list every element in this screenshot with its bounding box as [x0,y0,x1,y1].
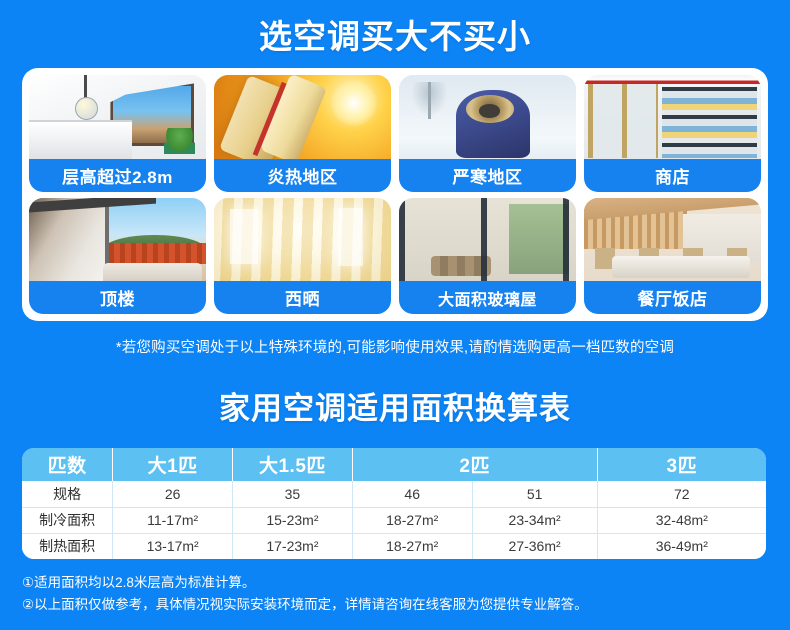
table-cell: 36-49m² [597,533,766,559]
table-row-label: 制热面积 [22,533,113,559]
store-shelves-photo [584,75,761,159]
scenario-card-cold-region[interactable]: 严寒地区 [399,75,576,192]
scenario-card-row-1: 层高超过2.8m 炎热地区 严寒地区 商 [29,75,761,192]
table-header-cell: 大1.5匹 [233,448,353,481]
table-cell: 46 [352,481,472,507]
table-row: 规格 26 35 46 51 72 [22,481,766,507]
table-header-row: 匹数 大1匹 大1.5匹 2匹 3匹 [22,448,766,481]
table-header-cell: 3匹 [597,448,766,481]
scenario-card-store[interactable]: 商店 [584,75,761,192]
table-cell: 13-17m² [113,533,233,559]
table-row-label: 制冷面积 [22,507,113,533]
footnotes: ①适用面积均以2.8米层高为标准计算。 ②以上面积仅做参考，具体情况视实际安装环… [22,572,588,617]
footnote-item: ①适用面积均以2.8米层高为标准计算。 [22,572,588,594]
rooftop-terrace-photo [29,198,206,282]
table-cell: 32-48m² [597,507,766,533]
page-title: 选空调买大不买小 [0,0,790,53]
table-cell: 27-36m² [472,533,597,559]
table-cell: 15-23m² [233,507,353,533]
scenario-card-top-floor[interactable]: 顶楼 [29,198,206,315]
scenario-card-west-sun[interactable]: 西晒 [214,198,391,315]
glass-house-photo [399,198,576,282]
scenario-card-label: 大面积玻璃屋 [399,281,576,314]
scenario-card-restaurant[interactable]: 餐厅饭店 [584,198,761,315]
tall-ceiling-kitchen-photo [29,75,206,159]
table-cell: 17-23m² [233,533,353,559]
scenario-card-label: 餐厅饭店 [584,281,761,314]
table-row-label: 规格 [22,481,113,507]
table-row: 制冷面积 11-17m² 15-23m² 18-27m² 23-34m² 32-… [22,507,766,533]
scenario-card-label: 顶楼 [29,281,206,314]
table-cell: 11-17m² [113,507,233,533]
thermometer-sun-photo [214,75,391,159]
scenario-card-row-2: 顶楼 西晒 大面积玻璃屋 餐厅饭店 [29,198,761,315]
scenario-card-glass-house[interactable]: 大面积玻璃屋 [399,198,576,315]
footnote-item: ②以上面积仅做参考，具体情况视实际安装环境而定，详情请咨询在线客服为您提供专业解… [22,594,588,616]
table-cell: 26 [113,481,233,507]
table-title: 家用空调适用面积换算表 [0,383,790,428]
table-cell: 51 [472,481,597,507]
area-conversion-table: 匹数 大1匹 大1.5匹 2匹 3匹 规格 26 35 46 51 72 制冷面… [22,448,766,559]
table-cell: 23-34m² [472,507,597,533]
table-cell: 35 [233,481,353,507]
scenario-card-label: 严寒地区 [399,159,576,192]
table-cell: 72 [597,481,766,507]
table-row: 制热面积 13-17m² 17-23m² 18-27m² 27-36m² 36-… [22,533,766,559]
scenario-card-label: 层高超过2.8m [29,159,206,192]
scenario-card-panel: 层高超过2.8m 炎热地区 严寒地区 商 [22,68,768,321]
scenario-card-label: 西晒 [214,281,391,314]
scenario-card-tall-ceiling[interactable]: 层高超过2.8m [29,75,206,192]
scenario-card-label: 商店 [584,159,761,192]
scenario-card-hot-region[interactable]: 炎热地区 [214,75,391,192]
table-header-cell: 匹数 [22,448,113,481]
restaurant-interior-photo [584,198,761,282]
person-in-snow-photo [399,75,576,159]
table-cell: 18-27m² [352,507,472,533]
scenario-card-label: 炎热地区 [214,159,391,192]
special-environment-note: *若您购买空调处于以上特殊环境的,可能影响使用效果,请酌情选购更高一档匹数的空调 [0,336,790,357]
sunlit-curtains-photo [214,198,391,282]
table-header-cell: 大1匹 [113,448,233,481]
table-header-cell: 2匹 [352,448,597,481]
table-cell: 18-27m² [352,533,472,559]
